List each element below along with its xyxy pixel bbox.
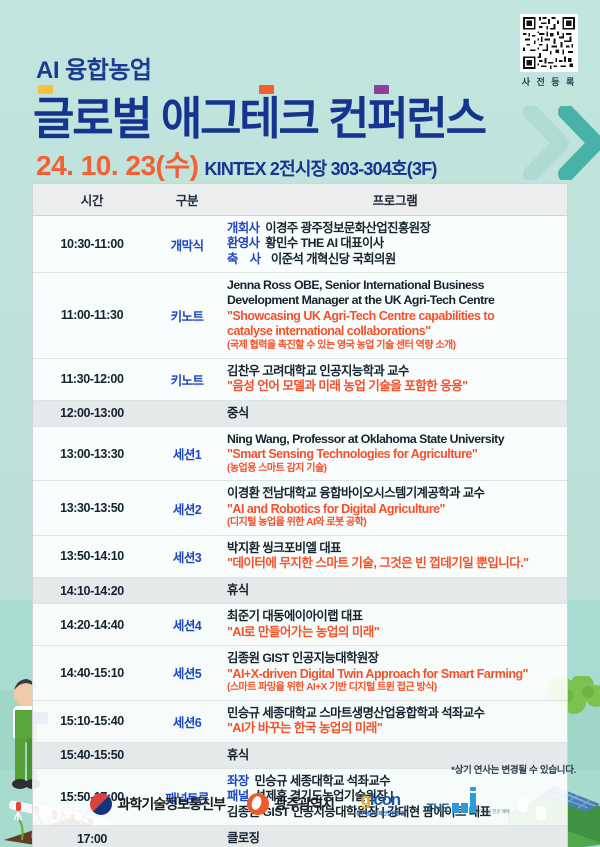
- program-line-label: 축 사: [227, 252, 265, 266]
- row-time: 14:10-14:20: [33, 577, 151, 603]
- program-line: 최준기 대동에이아이랩 대표: [227, 609, 563, 624]
- row-type: 세션6: [151, 700, 223, 742]
- program-line: "AI+X-driven Digital Twin Approach for S…: [227, 667, 563, 683]
- row-time: 13:30-13:50: [33, 481, 151, 535]
- chevron-right-icon-solid: [558, 106, 600, 180]
- program-line: (농업용 스마트 감지 기술): [227, 463, 563, 476]
- logo-gicon: gicon 광주정보문화산업진흥원: [356, 790, 404, 817]
- program-line: "AI로 만들어가는 농업의 미래": [227, 625, 563, 641]
- program-line: 클로징: [227, 831, 563, 846]
- row-program: 민승규 세종대학교 스마트생명산업융합학과 석좌교수"AI가 바꾸는 한국 농업…: [223, 700, 567, 742]
- row-program: 개회사 이경주 광주정보문화산업진흥원장환영사 황민수 THE AI 대표이사축…: [223, 216, 567, 273]
- program-table: 시간 구분 프로그램 10:30-11:00개막식개회사 이경주 광주정보문화산…: [33, 184, 567, 847]
- theai-the-text: THE: [427, 801, 450, 815]
- qr-code-icon[interactable]: [520, 14, 578, 72]
- program-line: 민승규 세종대학교 스마트생명산업융합학과 석좌교수: [227, 706, 563, 721]
- taegeuk-icon: [90, 793, 112, 815]
- title-accent-orange: [259, 85, 274, 94]
- table-row: 14:10-14:20휴식: [33, 577, 567, 603]
- program-line-label: 환영사: [227, 236, 259, 250]
- program-line-label: 개회사: [227, 221, 259, 235]
- program-line: "음성 언어 모델과 미래 농업 기술을 포함한 응용": [227, 379, 563, 395]
- table-row: 14:40-15:10세션5김종원 GIST 인공지능대학원장"AI+X-dri…: [33, 646, 567, 700]
- program-line: Ning Wang, Professor at Oklahoma State U…: [227, 432, 563, 447]
- program-line: "AI and Robotics for Digital Agriculture…: [227, 502, 563, 518]
- program-line: 중식: [227, 406, 563, 421]
- program-line: 휴식: [227, 583, 563, 598]
- row-type: 세션4: [151, 604, 223, 646]
- poster-subtitle: AI 융합농업: [36, 50, 152, 85]
- gicon-g: g: [361, 790, 370, 809]
- title-accent-yellow: [38, 85, 53, 94]
- logo-the-ai: THE 디지털 전문 매체: [427, 793, 510, 815]
- row-time: 14:40-15:10: [33, 646, 151, 700]
- column-header-type: 구분: [151, 184, 223, 216]
- program-line-label: 좌장: [227, 774, 249, 788]
- table-row: 14:20-14:40세션4최준기 대동에이아이랩 대표"AI로 만들어가는 농…: [33, 604, 567, 646]
- row-type: 세션5: [151, 646, 223, 700]
- gwangju-emblem-icon: [247, 793, 269, 815]
- row-type: [151, 577, 223, 603]
- row-time: 12:00-13:00: [33, 400, 151, 426]
- logo-gwangju-city: 광주광역시: [247, 793, 334, 815]
- row-time: 11:30-12:00: [33, 358, 151, 400]
- row-type: 개막식: [151, 216, 223, 273]
- row-time: 10:30-11:00: [33, 216, 151, 273]
- program-line: catalyse international collaborations": [227, 324, 563, 340]
- gicon-wordmark: gicon: [356, 790, 404, 810]
- program-line: Jenna Ross OBE, Senior International Bus…: [227, 278, 563, 293]
- table-row: 15:10-15:40세션6민승규 세종대학교 스마트생명산업융합학과 석좌교수…: [33, 700, 567, 742]
- row-time: 13:00-13:30: [33, 426, 151, 480]
- theai-blocks-icon: [452, 793, 476, 815]
- row-time: 15:40-15:50: [33, 742, 151, 768]
- row-time: 13:50-14:10: [33, 535, 151, 577]
- program-line: 환영사 황민수 THE AI 대표이사: [227, 236, 563, 251]
- row-program: Ning Wang, Professor at Oklahoma State U…: [223, 426, 567, 480]
- row-time: 17:00: [33, 826, 151, 847]
- row-program: 이경환 전남대학교 융합바이오시스템기계공학과 교수"AI and Roboti…: [223, 481, 567, 535]
- row-program: 최준기 대동에이아이랩 대표"AI로 만들어가는 농업의 미래": [223, 604, 567, 646]
- row-program: 중식: [223, 400, 567, 426]
- table-row: 11:00-11:30키노트Jenna Ross OBE, Senior Int…: [33, 273, 567, 358]
- program-table-container: 시간 구분 프로그램 10:30-11:00개막식개회사 이경주 광주정보문화산…: [32, 183, 568, 847]
- program-table-body: 10:30-11:00개막식개회사 이경주 광주정보문화산업진흥원장환영사 황민…: [33, 216, 567, 847]
- row-type: 세션3: [151, 535, 223, 577]
- program-line: (국제 협력을 촉진할 수 있는 영국 농업 기술 센터 역량 소개): [227, 340, 563, 353]
- qr-caption: 사 전 등 록: [513, 75, 585, 88]
- row-program: 박지환 씽크포비엘 대표"데이터에 무지한 스마트 기술, 그것은 빈 껍데기일…: [223, 535, 567, 577]
- program-line: 김종원 GIST 인공지능대학원장: [227, 651, 563, 666]
- program-line: Development Manager at the UK Agri-Tech …: [227, 293, 563, 308]
- table-row: 10:30-11:00개막식개회사 이경주 광주정보문화산업진흥원장환영사 황민…: [33, 216, 567, 273]
- speaker-change-disclaimer: *상기 연사는 변경될 수 있습니다.: [451, 762, 576, 776]
- program-line: "AI가 바꾸는 한국 농업의 미래": [227, 721, 563, 737]
- logo-label-ministry: 과학기술정보통신부: [117, 794, 225, 814]
- row-type: 키노트: [151, 358, 223, 400]
- conference-poster: 사 전 등 록 AI 융합농업 글로벌 애그테크 컨퍼런스 24. 10. 23…: [0, 0, 600, 847]
- row-program: 김종원 GIST 인공지능대학원장"AI+X-driven Digital Tw…: [223, 646, 567, 700]
- program-line: 개회사 이경주 광주정보문화산업진흥원장: [227, 221, 563, 236]
- program-line: "데이터에 무지한 스마트 기술, 그것은 빈 껍데기일 뿐입니다.": [227, 556, 563, 572]
- row-program: 클로징: [223, 826, 567, 847]
- row-program: Jenna Ross OBE, Senior International Bus…: [223, 273, 567, 358]
- program-line: "Showcasing UK Agri-Tech Centre capabili…: [227, 309, 563, 325]
- program-line: (스마트 파밍을 위한 AI+X 기반 디지털 트윈 접근 방식): [227, 682, 563, 695]
- date-venue-line: 24. 10. 23(수)KINTEX 2전시장 303-304호(3F): [36, 144, 437, 184]
- event-date: 24. 10. 23(수): [36, 150, 198, 181]
- program-line: 박지환 씽크포비엘 대표: [227, 541, 563, 556]
- program-line: 축 사 이준석 개혁신당 국회의원: [227, 252, 563, 267]
- table-row: 13:50-14:10세션3박지환 씽크포비엘 대표"데이터에 무지한 스마트 …: [33, 535, 567, 577]
- row-type: 세션1: [151, 426, 223, 480]
- title-accent-purple: [374, 85, 389, 94]
- pre-registration-qr[interactable]: 사 전 등 록: [513, 14, 585, 88]
- row-type: [151, 742, 223, 768]
- program-line: 좌장 민승규 세종대학교 석좌교수: [227, 774, 563, 789]
- column-header-program: 프로그램: [223, 184, 567, 216]
- row-type: [151, 400, 223, 426]
- row-type: 세션2: [151, 481, 223, 535]
- event-venue: KINTEX 2전시장 303-304호(3F): [204, 159, 436, 179]
- program-line: 김찬우 고려대학교 인공지능학과 교수: [227, 364, 563, 379]
- row-program: 김찬우 고려대학교 인공지능학과 교수"음성 언어 모델과 미래 농업 기술을 …: [223, 358, 567, 400]
- logo-label-gwangju: 광주광역시: [274, 794, 334, 814]
- program-line: 이경환 전남대학교 융합바이오시스템기계공학과 교수: [227, 486, 563, 501]
- table-row: 12:00-13:00중식: [33, 400, 567, 426]
- row-time: 14:20-14:40: [33, 604, 151, 646]
- row-type: [151, 826, 223, 847]
- program-line: (디지털 농업을 위한 AI와 로봇 공학): [227, 517, 563, 530]
- row-time: 15:10-15:40: [33, 700, 151, 742]
- table-row: 11:30-12:00키노트김찬우 고려대학교 인공지능학과 교수"음성 언어 …: [33, 358, 567, 400]
- row-type: 키노트: [151, 273, 223, 358]
- gicon-subtitle: 광주정보문화산업진흥원: [356, 810, 404, 817]
- sponsor-logos: 과학기술정보통신부 광주광역시 gicon 광주정보문화산업진흥원 THE 디지…: [0, 790, 600, 817]
- gicon-icon-text: icon: [370, 790, 400, 809]
- table-row: 13:00-13:30세션1Ning Wang, Professor at Ok…: [33, 426, 567, 480]
- logo-ministry-of-science-ict: 과학기술정보통신부: [90, 793, 225, 815]
- theai-subtitle: 디지털 전문 매체: [479, 809, 510, 815]
- table-row: 17:00클로징: [33, 826, 567, 847]
- program-line: "Smart Sensing Technologies for Agricult…: [227, 447, 563, 463]
- row-program: 휴식: [223, 577, 567, 603]
- column-header-time: 시간: [33, 184, 151, 216]
- program-line: 휴식: [227, 748, 563, 763]
- table-row: 13:30-13:50세션2이경환 전남대학교 융합바이오시스템기계공학과 교수…: [33, 481, 567, 535]
- table-header-row: 시간 구분 프로그램: [33, 184, 567, 216]
- row-time: 11:00-11:30: [33, 273, 151, 358]
